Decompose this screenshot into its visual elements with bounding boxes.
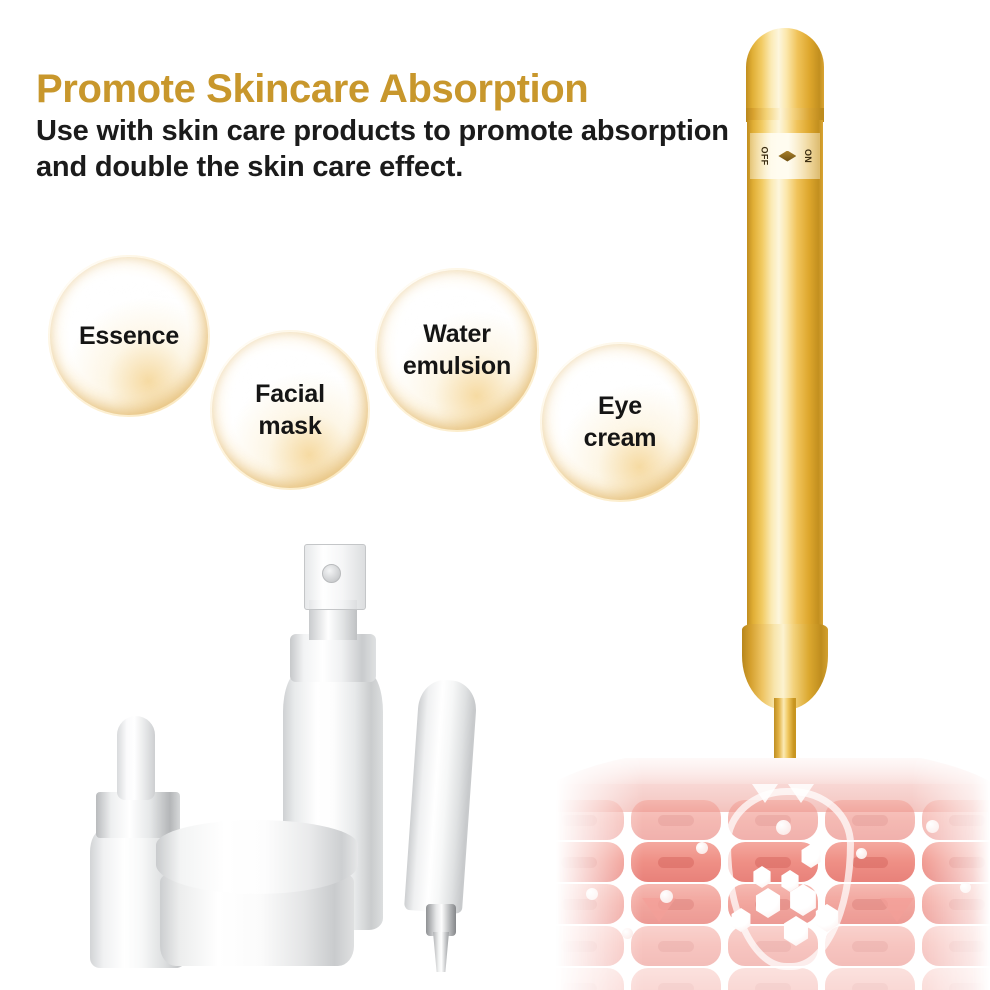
switch-label-on: ON <box>803 149 813 163</box>
skin-cell <box>556 842 624 882</box>
skin-cell <box>922 884 990 924</box>
skin-cell <box>922 968 990 990</box>
bubble-label-facial-mask: Facial mask <box>255 378 325 443</box>
switch-toggle-icon[interactable] <box>778 151 796 162</box>
bubble-label-essence: Essence <box>79 320 179 353</box>
skin-cell <box>825 968 915 990</box>
dropper-bulb <box>117 716 155 800</box>
eye-cream-tube-neck <box>426 904 456 936</box>
bubble-facial-mask[interactable]: Facial mask <box>210 330 370 490</box>
absorption-arrow-icon <box>752 784 778 803</box>
headline-block: Promote Skincare Absorption Use with ski… <box>36 68 746 185</box>
gold-beauty-bar-device: OFF ON <box>690 28 880 798</box>
skin-cell <box>631 968 721 990</box>
skin-surface-gloss <box>556 758 990 784</box>
absorption-arrow-icon <box>642 898 676 922</box>
skin-cell <box>825 926 915 966</box>
eye-cream-tube <box>400 680 478 970</box>
molecule-dot <box>926 820 939 833</box>
device-stem <box>774 698 796 766</box>
device-body <box>747 120 823 630</box>
skin-cell <box>631 926 721 966</box>
device-dome-top <box>746 28 824 114</box>
skin-cell <box>728 968 818 990</box>
skin-cell <box>556 800 624 840</box>
subtitle: Use with skin care products to promote a… <box>36 114 746 185</box>
bubble-label-eye-cream: Eye cream <box>584 390 657 455</box>
skin-cell <box>922 926 990 966</box>
skin-cell <box>556 926 624 966</box>
molecule-dot <box>696 842 708 854</box>
power-switch-plate[interactable]: OFF ON <box>750 133 820 179</box>
molecule-dot <box>660 890 673 903</box>
molecule-dot <box>622 928 633 939</box>
molecule-dot <box>856 848 867 859</box>
molecule-dot <box>776 820 791 835</box>
skin-cross-section <box>556 758 990 990</box>
skincare-products-cluster <box>82 532 482 972</box>
molecule-dot <box>586 888 598 900</box>
eye-cream-tube-body <box>404 678 478 913</box>
bubble-water-emulsion[interactable]: Water emulsion <box>375 268 539 432</box>
bubble-label-water-emulsion: Water emulsion <box>403 318 511 383</box>
cream-jar-lid <box>156 820 358 894</box>
skin-cell <box>556 968 624 990</box>
switch-label-off: OFF <box>759 147 769 166</box>
spray-bottle-collar <box>290 634 376 682</box>
cream-jar <box>156 820 358 968</box>
bubble-essence[interactable]: Essence <box>48 255 210 417</box>
skin-cell <box>631 800 721 840</box>
molecule-dot <box>960 882 971 893</box>
absorption-arrow-icon <box>788 784 814 803</box>
skin-cell-row <box>556 968 990 990</box>
absorption-arrow-icon <box>880 898 914 922</box>
skin-cell <box>922 842 990 882</box>
page-title: Promote Skincare Absorption <box>36 68 746 110</box>
bubble-eye-cream[interactable]: Eye cream <box>540 342 700 502</box>
eye-cream-applicator-tip <box>431 932 451 972</box>
product-marketing-image: Promote Skincare Absorption Use with ski… <box>0 0 990 990</box>
spray-nozzle-icon <box>322 564 341 583</box>
